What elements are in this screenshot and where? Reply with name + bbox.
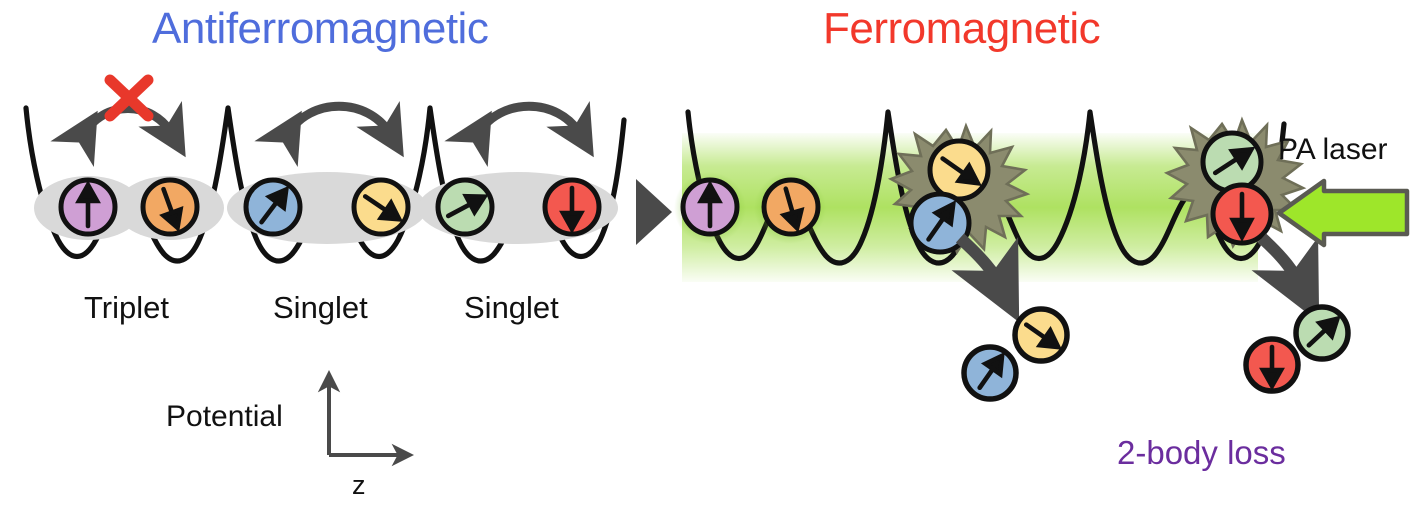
figure-canvas: Antiferromagnetic Ferromagnetic [0,0,1414,516]
fm-atom-1 [683,180,737,234]
hopping-arrow-singlet-1 [288,106,390,134]
lost-atom-3 [1296,307,1348,359]
fm-atom-2 [764,180,818,234]
label-two-body-loss: 2-body loss [1117,434,1286,472]
hopping-arrow-triplet [84,109,172,135]
axes-indicator [329,382,402,455]
afm-pair-shadows [34,172,618,244]
afm-atom-6 [545,180,599,234]
afm-atom-3 [246,180,300,234]
label-singlet-1: Singlet [273,290,368,326]
label-potential-axis: Potential [166,400,283,434]
afm-atom-1 [61,180,115,234]
afm-atom-4 [354,180,408,234]
loss-arrow-right [1262,238,1302,288]
label-triplet: Triplet [84,290,169,326]
hopping-arrow-singlet-2 [478,106,580,134]
fm-atom-5 [1203,133,1261,191]
fm-atom-6 [1213,185,1271,243]
afm-atom-2 [143,180,197,234]
lost-atom-2 [964,347,1016,399]
transition-triangle-icon [636,179,672,245]
afm-atom-5 [438,180,492,234]
fm-atom-3 [930,141,988,199]
label-z-axis: z [352,470,366,501]
lost-atom-1 [1015,309,1067,361]
label-pa-laser: PA laser [1278,133,1388,167]
hopping-arrows-left [84,106,580,134]
label-singlet-2: Singlet [464,290,559,326]
lost-atom-4 [1246,339,1298,391]
